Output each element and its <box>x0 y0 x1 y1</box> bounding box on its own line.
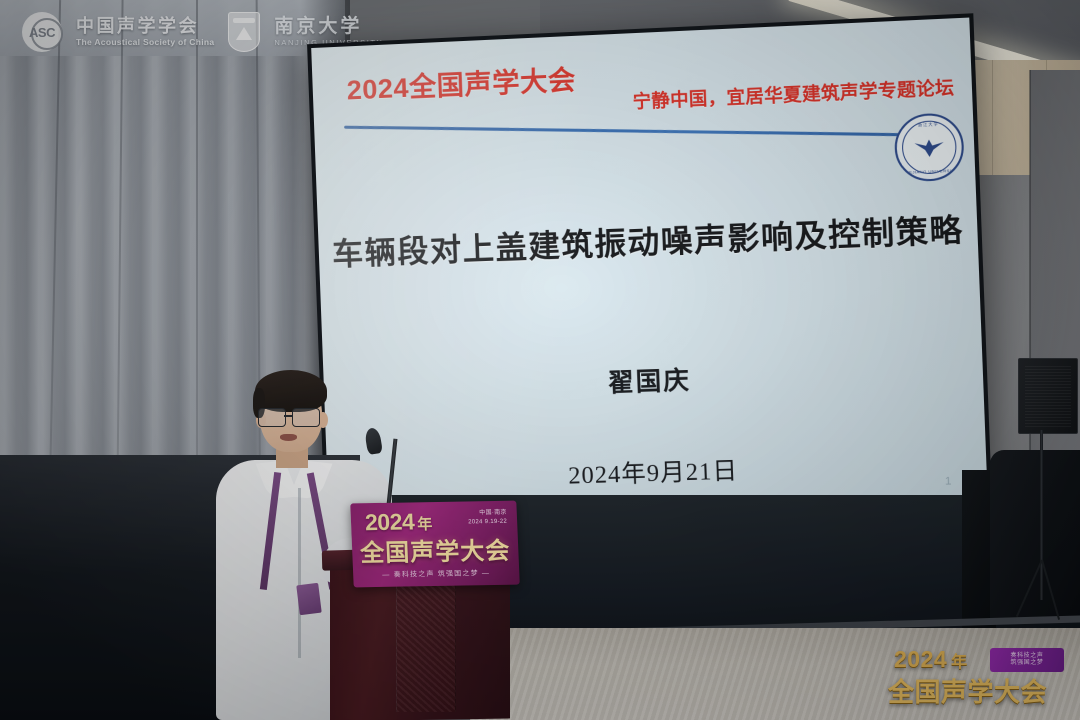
presenter-shirt-placket <box>298 488 301 658</box>
podium-sign-mini-text: 中国·南京 2024 9.19-22 <box>468 509 508 527</box>
stage-monitor <box>990 450 1080 620</box>
podium-sign-sub-text: — 奏科技之声 筑强国之梦 — <box>353 568 519 581</box>
presenter-mouth <box>280 434 297 441</box>
seal-emblem-icon <box>911 137 947 159</box>
asc-logo-icon: ASC <box>22 12 62 52</box>
presentation-date: 2024年9月21日 <box>327 442 987 497</box>
podium-sign-mini-line2: 2024 9.19-22 <box>468 517 507 526</box>
presentation-photo-scene: ASC 中国声学学会 The Acoustical Society of Chi… <box>0 0 1080 720</box>
university-seal-icon: 浙江大学 ZHEJIANG UNIVERSITY <box>894 112 965 182</box>
slide-page-number: 1 <box>945 475 952 487</box>
watermark-badge-line2: 筑强国之梦 <box>1010 660 1043 668</box>
podium-sign-year-suffix: 年 <box>417 516 432 533</box>
speaker-stand-pole <box>1040 430 1043 600</box>
speaker-name: 翟国庆 <box>323 350 983 409</box>
presentation-title: 车辆段对上盖建筑振动噪声影响及控制策略 <box>318 204 978 275</box>
projection-screen: 2024全国声学大会 宁静中国，宜居华夏建筑声学专题论坛 浙江大学 ZHEJIA… <box>307 13 992 522</box>
presenter-badge <box>296 583 321 615</box>
forum-title: 宁静中国，宜居华夏建筑声学专题论坛 <box>632 74 955 115</box>
watermark-year-suffix: 年 <box>951 654 968 671</box>
watermark-badge-line1: 奏科技之声 <box>1010 653 1043 661</box>
presenter-hair <box>255 370 327 412</box>
glasses-icon <box>258 408 326 425</box>
slide-header: 2024全国声学大会 宁静中国，宜居华夏建筑声学专题论坛 <box>342 41 951 169</box>
podium-carved-panel <box>396 572 456 712</box>
podium-sign-mini-line1: 中国·南京 <box>468 509 507 518</box>
podium-sign-year-number: 2024 <box>364 508 414 535</box>
university-name-cn: 南京大学 <box>274 17 383 37</box>
watermark-main-text: 全国声学大会 <box>888 672 1047 709</box>
society-name-en: The Acoustical Society of China <box>76 37 214 47</box>
wall-pillar <box>1030 70 1080 510</box>
conference-title: 2024全国声学大会 <box>346 58 576 107</box>
podium-sign-main-text: 全国声学大会 <box>359 531 512 569</box>
seal-bottom-text: ZHEJIANG UNIVERSITY <box>898 167 963 175</box>
nanjing-university-shield-icon <box>228 12 260 52</box>
podium-banner-sign: 2024年 中国·南京 2024 9.19-22 全国声学大会 — 奏科技之声 … <box>350 501 520 588</box>
society-name-cn: 中国声学学会 <box>76 17 214 36</box>
watermark-year-number: 2024 <box>894 646 947 672</box>
pa-loudspeaker <box>1018 358 1078 434</box>
conference-watermark: 2024年 奏科技之声 筑强国之梦 全国声学大会 <box>884 644 1070 712</box>
watermark-year: 2024年 <box>894 646 968 673</box>
presentation-slide: 2024全国声学大会 宁静中国，宜居华夏建筑声学专题论坛 浙江大学 ZHEJIA… <box>311 18 988 518</box>
watermark-badge: 奏科技之声 筑强国之梦 <box>990 648 1064 672</box>
header-divider-line <box>344 126 948 137</box>
society-name-block: 中国声学学会 The Acoustical Society of China <box>76 17 214 48</box>
